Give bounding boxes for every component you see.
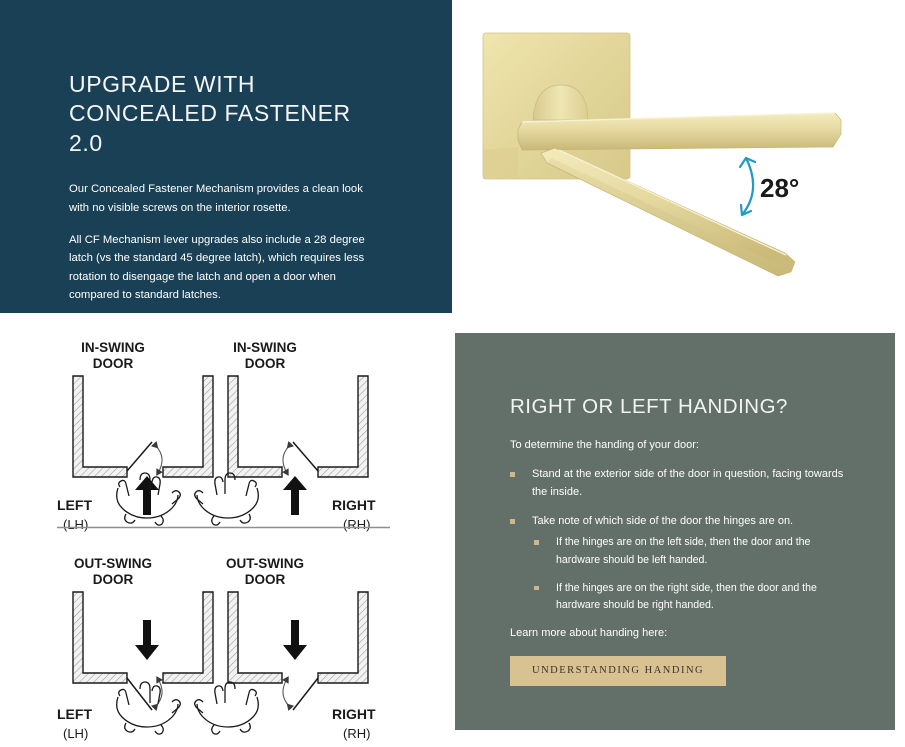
- quadrant-hand-label-1: RIGHT: [332, 497, 376, 513]
- door-handing-svg: IN-SWING DOOR LEFT (LH): [0, 330, 452, 747]
- quadrant-hand-abbrev-0: (LH): [63, 517, 88, 532]
- quadrant-hand-label-3: RIGHT: [332, 706, 376, 722]
- quadrant-title-line1-2: OUT-SWING: [74, 556, 152, 571]
- angle-label: 28°: [760, 173, 799, 203]
- angle-annotation: [740, 158, 755, 215]
- handing-panel-heading: RIGHT OR LEFT HANDING?: [510, 395, 855, 419]
- sub-list-item: If the hinges are on the left side, then…: [532, 534, 855, 568]
- page-root: UPGRADE WITH CONCEALED FASTENER 2.0 Our …: [0, 0, 905, 747]
- handing-panel-intro: To determine the handing of your door:: [510, 437, 855, 454]
- diagram-quadrant-in-swing-right: IN-SWING DOOR RIGHT (RH): [195, 340, 376, 532]
- quadrant-title-line1-1: IN-SWING: [233, 340, 297, 355]
- cf-panel-paragraph-2: All CF Mechanism lever upgrades also inc…: [69, 231, 384, 304]
- learn-more-text: Learn more about handing here:: [510, 625, 855, 642]
- cf-panel-heading: UPGRADE WITH CONCEALED FASTENER 2.0: [69, 70, 390, 158]
- square-bullet-icon: [510, 472, 515, 477]
- diagram-quadrant-out-swing-left: OUT-SWING DOOR LEFT (LH): [57, 556, 213, 741]
- list-item: Take note of which side of the door the …: [510, 513, 855, 614]
- handing-instructions-list: Stand at the exterior side of the door i…: [510, 466, 855, 614]
- square-bullet-icon: [510, 519, 515, 524]
- square-bullet-icon: [534, 540, 539, 545]
- quadrant-title-line2-3: DOOR: [245, 572, 286, 587]
- sub-list-item: If the hinges are on the right side, the…: [532, 580, 855, 614]
- lever-illustration: 28°: [455, 0, 905, 313]
- quadrant-title-line1-0: IN-SWING: [81, 340, 145, 355]
- hand-icon-right-in-swing: [195, 473, 259, 525]
- quadrant-title-line2-2: DOOR: [93, 572, 134, 587]
- square-bullet-icon: [534, 586, 539, 591]
- lever-product-photo: 28°: [455, 0, 905, 313]
- list-item-text: Take note of which side of the door the …: [532, 515, 793, 527]
- quadrant-hand-abbrev-2: (LH): [63, 726, 88, 741]
- understanding-handing-button[interactable]: UNDERSTANDING HANDING: [510, 656, 726, 686]
- quadrant-title-line2-1: DOOR: [245, 356, 286, 371]
- hand-icon-right-out-swing: [195, 682, 259, 734]
- quadrant-hand-abbrev-3: (RH): [343, 726, 370, 741]
- handing-diagrams: IN-SWING DOOR LEFT (LH): [0, 330, 452, 747]
- diagram-quadrant-out-swing-right: OUT-SWING DOOR RIGHT (RH): [195, 556, 376, 741]
- quadrant-hand-label-0: LEFT: [57, 497, 92, 513]
- handing-info-panel: RIGHT OR LEFT HANDING? To determine the …: [455, 333, 895, 730]
- handing-sub-list: If the hinges are on the left side, then…: [532, 534, 855, 614]
- list-item: Stand at the exterior side of the door i…: [510, 466, 855, 502]
- quadrant-hand-abbrev-1: (RH): [343, 517, 370, 532]
- quadrant-title-line2-0: DOOR: [93, 356, 134, 371]
- diagram-quadrant-in-swing-left: IN-SWING DOOR LEFT (LH): [57, 340, 213, 532]
- sub-list-item-text: If the hinges are on the right side, the…: [556, 582, 817, 611]
- quadrant-hand-label-2: LEFT: [57, 706, 92, 722]
- quadrant-title-line1-3: OUT-SWING: [226, 556, 304, 571]
- cf-panel-paragraph-1: Our Concealed Fastener Mechanism provide…: [69, 180, 384, 217]
- list-item-text: Stand at the exterior side of the door i…: [532, 468, 843, 498]
- sub-list-item-text: If the hinges are on the left side, then…: [556, 536, 810, 565]
- concealed-fastener-panel: UPGRADE WITH CONCEALED FASTENER 2.0 Our …: [0, 0, 452, 313]
- hand-icon-left-out-swing: [117, 682, 181, 734]
